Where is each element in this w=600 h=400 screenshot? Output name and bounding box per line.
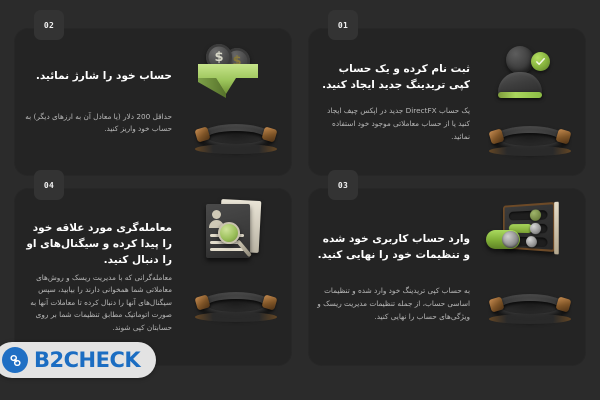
pedestal-clasp-left: [194, 294, 210, 310]
card-title: ثبت نام کرده و یک حساب کپی تریدینگ جدید …: [316, 61, 470, 94]
verified-check-icon: [531, 52, 550, 71]
illustration-scene: [474, 188, 586, 366]
pedestal-clasp-left: [194, 126, 210, 142]
card-content: معامله‌گری مورد علاقه خود را پیدا کرده و…: [14, 188, 292, 366]
pedestal-clasp-right: [555, 128, 571, 144]
avatar-green-base: [498, 92, 542, 98]
card-description: معامله‌گرانی که با مدیریت ریسک و روش‌های…: [20, 272, 172, 335]
steps-grid: 01: [0, 0, 600, 400]
avatar-head-shape: [506, 46, 534, 74]
pedestal-clasp-right: [555, 296, 571, 312]
card-description: یک حساب DirectFX جدید در اپکس چیف ایجاد …: [316, 105, 470, 143]
card-copy: حساب خود را شارژ نمائید. حداقل 200 دلار …: [14, 28, 180, 176]
card-title: وارد حساب کاربری خود شده و تنظیمات خود ر…: [316, 231, 470, 264]
pedestal-clasp-right: [261, 126, 277, 142]
card-copy: معامله‌گری مورد علاقه خود را پیدا کرده و…: [14, 188, 180, 366]
card-copy: وارد حساب کاربری خود شده و تنظیمات خود ر…: [308, 188, 474, 366]
slider-knob-1: [530, 209, 541, 221]
step-card-02[interactable]: 02 $ $: [14, 28, 292, 176]
card-description: حداقل 200 دلار (یا معادل آن به ارزهای دی…: [20, 111, 172, 136]
card-illustration-coins-deposit: $ $: [180, 28, 292, 176]
illustration-scene: $ $: [180, 28, 292, 176]
step-card-03[interactable]: 03: [308, 188, 586, 366]
card-illustration-settings-sliders: [474, 188, 586, 366]
step-card-01[interactable]: 01: [308, 28, 586, 176]
pedestal-rim: [195, 144, 277, 154]
card-content: وارد حساب کاربری خود شده و تنظیمات خود ر…: [308, 188, 586, 366]
card-copy: ثبت نام کرده و یک حساب کپی تریدینگ جدید …: [308, 28, 474, 176]
deposit-arrow-icon: [196, 60, 262, 98]
card-title: معامله‌گری مورد علاقه خود را پیدا کرده و…: [20, 220, 172, 269]
card-content: $ $: [14, 28, 292, 176]
pedestal-rim: [489, 314, 571, 324]
pedestal-clasp-right: [261, 294, 277, 310]
slider-knob-2: [530, 223, 541, 234]
chain-link-logo-icon: [2, 347, 28, 373]
pedestal-clasp-left: [488, 296, 504, 312]
pedestal-clasp-left: [488, 128, 504, 144]
magnifier-icon: [218, 222, 240, 244]
slider-track-1: [509, 210, 548, 220]
screenshot-root: 01: [0, 0, 600, 400]
card-title: حساب خود را شارژ نمائید.: [20, 68, 172, 84]
illustration-scene: [180, 188, 292, 366]
step-card-04[interactable]: 04: [14, 188, 292, 366]
card-illustration-user-avatar-verified: [474, 28, 586, 176]
toggle-switch-shape: [486, 230, 520, 249]
watermark-brand-text: B2CHECK: [34, 348, 140, 372]
card-illustration-trader-profile-search: [180, 188, 292, 366]
pedestal-rim: [195, 312, 277, 322]
card-content: ثبت نام کرده و یک حساب کپی تریدینگ جدید …: [308, 28, 586, 176]
illustration-scene: [474, 28, 586, 176]
watermark-badge: B2CHECK: [0, 342, 156, 378]
profile-avatar-head: [212, 210, 221, 219]
profile-text-line: [210, 248, 244, 251]
pedestal-rim: [489, 146, 571, 156]
slider-knob-3: [526, 236, 537, 248]
card-description: به حساب کپی تریدینگ خود وارد شده و تنظیم…: [316, 285, 470, 323]
